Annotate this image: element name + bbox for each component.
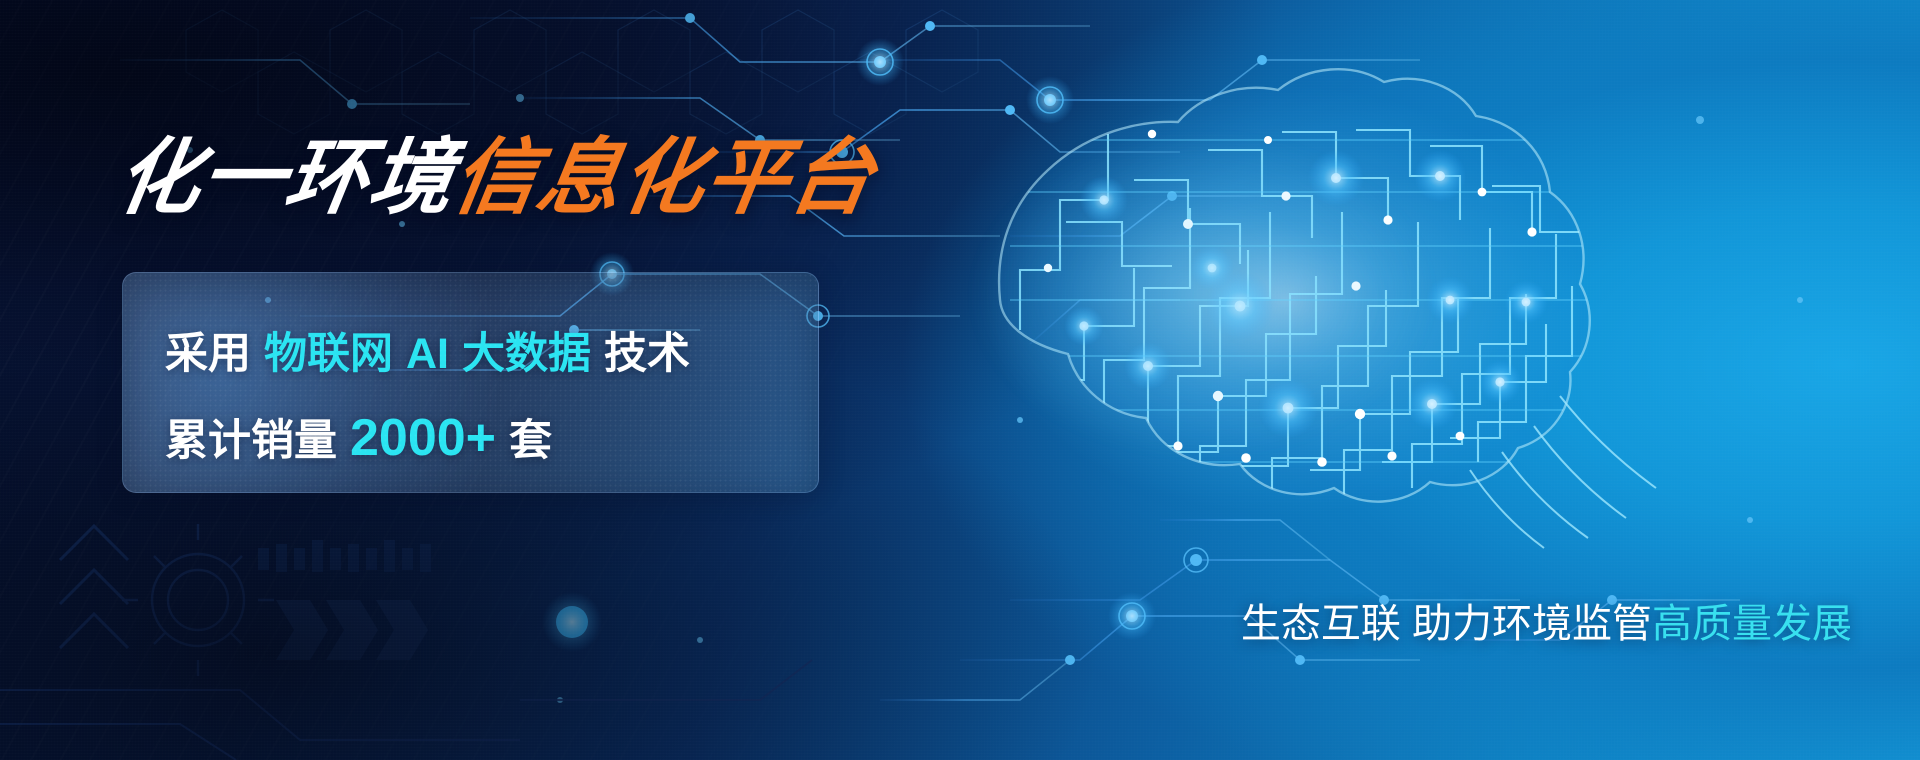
panel-line1-highlight-ai: AI [406,330,449,378]
panel-line1-highlight-bigdata: 大数据 [462,330,591,378]
panel-line1-suffix: 技术 [604,330,690,378]
page-title-white: 化一环境 [111,131,462,224]
page-title: 化一环境信息化平台 [111,136,880,219]
tagline: 生态互联 助力环境监管高质量发展 [1241,604,1852,644]
panel-line2-suffix: 套 [509,417,552,465]
banner-root: 化一环境信息化平台 采用物联网AI大数据技术 累计销量2000+套 生态互联 助… [0,0,1920,760]
panel-line2-prefix: 累计销量 [165,417,337,465]
highlight-panel: 采用物联网AI大数据技术 累计销量2000+套 [122,272,819,493]
panel-line2-highlight-count: 2000+ [350,409,496,467]
panel-line1-highlight-iot: 物联网 [264,330,393,378]
panel-line-sales: 累计销量2000+套 [165,412,552,464]
tagline-cyan: 高质量发展 [1652,602,1852,646]
panel-line-technologies: 采用物联网AI大数据技术 [165,333,690,376]
page-title-orange: 信息化平台 [447,131,882,224]
tagline-white: 生态互联 助力环境监管 [1241,602,1652,646]
panel-line1-prefix: 采用 [165,330,251,378]
